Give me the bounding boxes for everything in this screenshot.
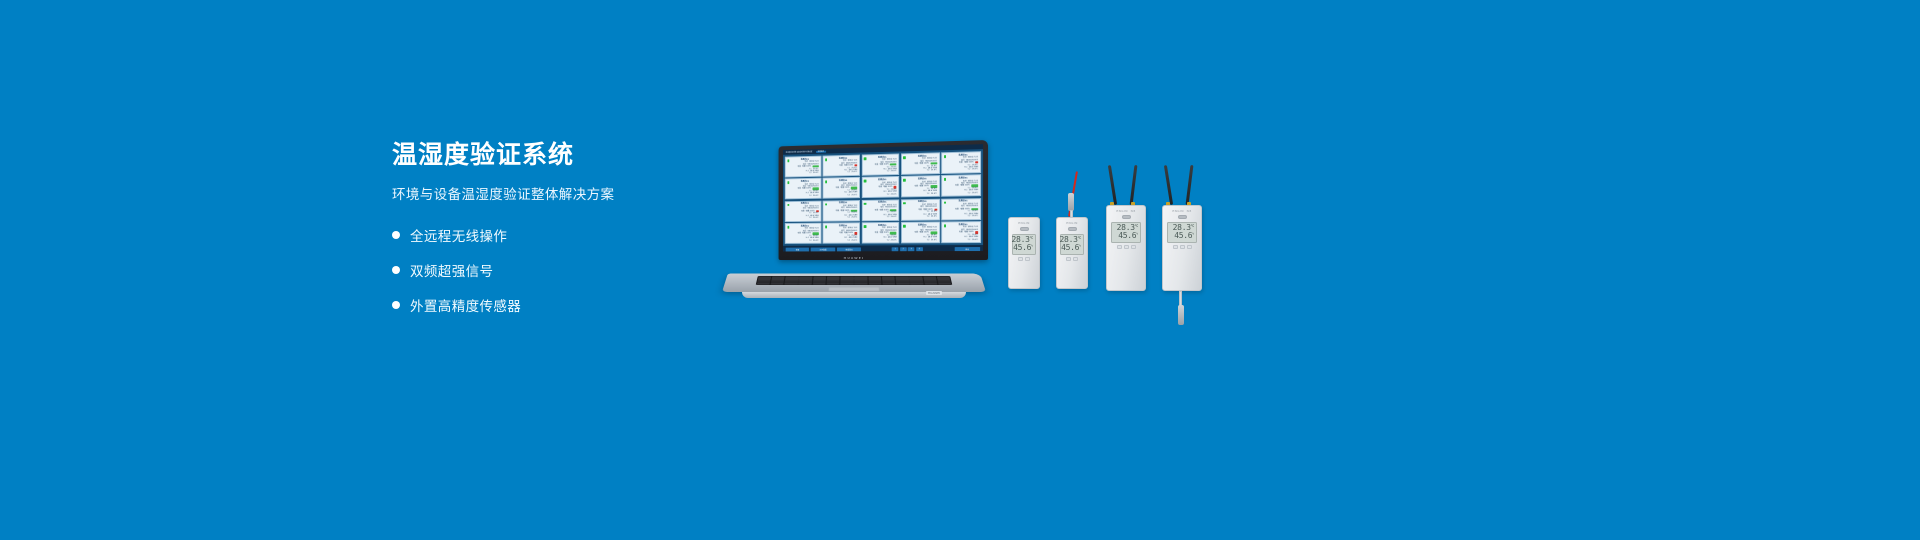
monitor-card[interactable]: 监测点01名称验证点 T-01编号SN20250001电量电量 100%T-12… xyxy=(941,151,981,174)
field-label: T-2 xyxy=(968,239,971,241)
field-value: 25.6℃ xyxy=(972,239,978,241)
monitor-card-field: T-225.6℃ xyxy=(868,193,897,196)
field-label: 电量 xyxy=(914,232,918,234)
field-label: 电量 xyxy=(839,232,842,234)
field-label: 电量 xyxy=(878,187,882,189)
keyboard-key[interactable] xyxy=(770,283,783,284)
antenna-right xyxy=(1186,165,1194,205)
monitor-card[interactable]: 监测点01名称验证点 T-01编号SN20250001电量电量 100%T-12… xyxy=(823,223,860,244)
status-led-icon xyxy=(903,156,905,159)
field-label: 电量 xyxy=(959,162,963,165)
monitor-card[interactable]: 监测点01名称验证点 T-01编号SN20250001电量电量 100%T-12… xyxy=(901,175,940,197)
antenna-left xyxy=(1164,165,1173,205)
field-label: T-2 xyxy=(809,217,812,219)
monitor-card-field: T-225.6℃ xyxy=(868,171,897,174)
exit-button[interactable]: 退出 xyxy=(954,247,980,252)
field-label: 电量 xyxy=(914,163,918,166)
status-led-icon xyxy=(944,155,947,158)
laptop-screen: 温湿度验证系统 设备实时监控 采集设置 实时监控 监测点01名称验证点 T-01… xyxy=(783,144,983,251)
page-subtitle: 环境与设备温湿度验证整体解决方案 xyxy=(392,186,722,205)
device-hanger-hole xyxy=(1068,227,1077,231)
app-toolbar: 新建 打开配置 数据导出 1 2 3 4 退出 xyxy=(783,245,983,251)
device-key[interactable] xyxy=(1025,257,1030,261)
device-keypad[interactable] xyxy=(1066,257,1078,261)
lcd-humidity: 45.6% xyxy=(1013,244,1033,252)
device-key[interactable] xyxy=(1180,245,1185,249)
laptop-lip-label: HUAWEI xyxy=(926,291,942,295)
keyboard-key[interactable] xyxy=(826,283,839,284)
monitor-card-field: T-225.6℃ xyxy=(908,170,937,173)
device-body: ENGIN N8 28.3℃ 45.6% xyxy=(1162,205,1202,291)
monitor-card-field: T-225.6℃ xyxy=(868,239,897,242)
data-logger-small-1: ENGIN 28.3℃ 45.6% xyxy=(1008,217,1040,289)
monitor-card-field: T-225.6℃ xyxy=(829,172,857,175)
new-button[interactable]: 新建 xyxy=(786,247,810,251)
device-body: ENGIN 28.3℃ 45.6% xyxy=(1056,217,1088,289)
device-keypad[interactable] xyxy=(1018,257,1030,261)
antenna-right xyxy=(1130,165,1138,205)
lcd-humidity: 45.6% xyxy=(1174,232,1194,240)
field-label: T-2 xyxy=(927,193,930,195)
field-value: 25.6℃ xyxy=(931,170,937,173)
monitor-card-field: T-225.6℃ xyxy=(829,194,857,197)
status-led-icon xyxy=(864,180,866,183)
field-value: 25.6℃ xyxy=(931,193,937,196)
field-label: T-2 xyxy=(887,216,890,218)
laptop-brand-logo: HUAWEI xyxy=(844,256,865,260)
field-label: T-2 xyxy=(927,170,930,172)
monitor-card-field: T-225.6℃ xyxy=(948,192,978,195)
monitor-card[interactable]: 监测点01名称验证点 T-01编号SN20250001电量电量 100%T-12… xyxy=(785,223,822,244)
device-lcd-display: 28.3℃ 45.6% xyxy=(1012,234,1035,255)
monitor-card-grid: 监测点01名称验证点 T-01编号SN20250001电量电量 100%T-12… xyxy=(783,149,983,246)
monitor-card[interactable]: 监测点01名称验证点 T-01编号SN20250001电量电量 100%T-12… xyxy=(823,177,860,199)
sensor-probe-tip xyxy=(1068,193,1074,211)
device-key[interactable] xyxy=(1117,245,1122,249)
status-led-icon xyxy=(944,178,947,181)
monitor-card[interactable]: 监测点01名称验证点 T-01编号SN20250001电量电量 100%T-12… xyxy=(861,153,899,175)
lcd-humidity: 45.6% xyxy=(1118,232,1138,240)
status-led-icon xyxy=(825,158,827,161)
device-body: ENGIN N8 28.3℃ 45.6% xyxy=(1106,205,1146,291)
status-led-icon xyxy=(944,225,947,228)
sensor-probe-tip xyxy=(1178,305,1184,325)
status-led-icon xyxy=(825,226,827,229)
monitor-card-field: T-225.6℃ xyxy=(948,169,978,172)
feature-list: 全远程无线操作 双频超强信号 外置高精度传感器 xyxy=(392,225,722,315)
monitor-card[interactable]: 监测点01名称验证点 T-01编号SN20250001电量电量 100%T-12… xyxy=(901,222,940,244)
page-button-2[interactable]: 2 xyxy=(900,247,907,251)
monitor-card[interactable]: 监测点01名称验证点 T-01编号SN20250001电量电量 100%T-12… xyxy=(941,175,981,198)
list-item: 全远程无线操作 xyxy=(392,225,722,245)
laptop-deck xyxy=(722,274,986,292)
field-label: 电量 xyxy=(914,186,918,188)
field-value: 25.6℃ xyxy=(813,195,819,197)
monitor-card[interactable]: 监测点01名称验证点 T-01编号SN20250001电量电量 100%T-12… xyxy=(941,198,981,220)
hero-text-block: 温湿度验证系统 环境与设备温湿度验证整体解决方案 全远程无线操作 双频超强信号 … xyxy=(392,140,722,330)
status-led-icon xyxy=(787,159,789,162)
monitor-card-field: T-225.6℃ xyxy=(908,216,937,219)
field-label: T-2 xyxy=(809,173,812,175)
monitor-card-field: T-225.6℃ xyxy=(948,215,978,218)
monitor-card-field: T-225.6℃ xyxy=(791,195,819,198)
feature-label: 双频超强信号 xyxy=(410,260,493,280)
field-value: 25.6℃ xyxy=(813,240,819,242)
data-logger-large-2: ENGIN N8 28.3℃ 45.6% xyxy=(1162,205,1202,291)
field-value: 25.6℃ xyxy=(851,172,857,175)
field-label: 电量 xyxy=(797,166,800,168)
device-lcd-display: 28.3℃ 45.6% xyxy=(1111,222,1141,243)
field-label: 电量 xyxy=(797,188,800,190)
device-lcd-display: 28.3℃ 45.6% xyxy=(1167,222,1197,243)
field-value: 25.6℃ xyxy=(851,217,857,219)
page-button-1[interactable]: 1 xyxy=(892,247,899,251)
keyboard-key[interactable] xyxy=(854,283,867,284)
status-led-icon xyxy=(787,182,789,185)
monitor-card-field: T-225.6℃ xyxy=(791,172,819,175)
status-led-icon xyxy=(864,157,866,160)
device-keypad[interactable] xyxy=(1117,245,1136,249)
field-label: T-2 xyxy=(847,239,850,241)
device-keypad[interactable] xyxy=(1173,245,1192,249)
monitor-card[interactable]: 监测点01名称验证点 T-01编号SN20250001电量电量 100%T-12… xyxy=(861,199,899,221)
data-logger-small-2: ENGIN 28.3℃ 45.6% xyxy=(1056,217,1088,289)
monitor-card-field: T-225.6℃ xyxy=(791,240,819,242)
trackpad[interactable] xyxy=(828,287,881,292)
monitor-card-field: T-225.6℃ xyxy=(908,239,937,242)
device-hanger-hole xyxy=(1122,215,1131,219)
field-label: 电量 xyxy=(797,233,800,235)
device-key[interactable] xyxy=(1187,245,1192,249)
feature-label: 全远程无线操作 xyxy=(410,225,507,245)
monitor-card[interactable]: 监测点01名称验证点 T-01编号SN20250001电量电量 100%T-12… xyxy=(861,222,899,244)
device-brand-label: ENGIN xyxy=(1066,221,1078,225)
device-body: ENGIN 28.3℃ 45.6% xyxy=(1008,217,1040,289)
page-title: 温湿度验证系统 xyxy=(392,140,722,170)
field-label: T-2 xyxy=(887,239,890,241)
field-value: 25.6℃ xyxy=(813,217,819,219)
field-label: 电量 xyxy=(959,231,963,233)
keyboard-key[interactable] xyxy=(798,283,811,284)
laptop-lid: 温湿度验证系统 设备实时监控 采集设置 实时监控 监测点01名称验证点 T-01… xyxy=(779,140,988,260)
keyboard-key[interactable] xyxy=(756,283,769,284)
status-led-icon xyxy=(903,179,905,182)
field-label: 电量 xyxy=(801,210,804,212)
monitor-card[interactable]: 监测点01名称验证点 T-01编号SN20250001电量电量 100%T-12… xyxy=(823,200,860,222)
status-led-icon xyxy=(903,225,905,228)
field-label: T-2 xyxy=(847,194,850,196)
keyboard-row xyxy=(756,283,951,284)
field-value: 25.6℃ xyxy=(972,215,978,218)
list-item: 外置高精度传感器 xyxy=(392,295,722,315)
monitor-card[interactable]: 监测点01名称验证点 T-01编号SN20250001电量电量 100%T-12… xyxy=(785,200,822,221)
field-label: 电量 xyxy=(955,208,959,210)
laptop-illustration: 温湿度验证系统 设备实时监控 采集设置 实时监控 监测点01名称验证点 T-01… xyxy=(720,140,988,300)
monitor-card-field: T-225.6℃ xyxy=(908,193,937,196)
monitor-card[interactable]: 监测点01名称验证点 T-01编号SN20250001电量电量 100%T-12… xyxy=(901,152,940,175)
monitor-card-field: T-225.6℃ xyxy=(791,217,819,220)
field-value: 25.6℃ xyxy=(851,194,857,196)
field-label: T-2 xyxy=(887,171,890,173)
field-label: 电量 xyxy=(839,165,842,167)
field-label: T-2 xyxy=(809,195,812,197)
field-value: 25.6℃ xyxy=(891,171,897,174)
device-hanger-hole xyxy=(1178,215,1187,219)
status-led-icon xyxy=(903,202,905,205)
keyboard-key[interactable] xyxy=(784,283,797,284)
device-group: ENGIN 28.3℃ 45.6% xyxy=(1000,175,1240,325)
keyboard-key[interactable] xyxy=(896,283,909,284)
field-value: 25.6℃ xyxy=(851,239,857,241)
antenna-left xyxy=(1108,165,1117,205)
page-button-4[interactable]: 4 xyxy=(916,247,923,251)
field-label: 电量 xyxy=(875,232,879,234)
field-label: T-2 xyxy=(847,217,850,219)
status-led-icon xyxy=(944,201,947,204)
laptop-front-lip: HUAWEI xyxy=(742,292,966,298)
field-label: T-2 xyxy=(847,172,850,174)
device-key[interactable] xyxy=(1073,257,1078,261)
device-hanger-hole xyxy=(1020,227,1029,231)
field-label: 电量 xyxy=(875,164,879,166)
status-led-icon xyxy=(864,225,866,228)
field-value: 25.6℃ xyxy=(891,193,897,196)
keyboard-key[interactable] xyxy=(840,283,853,284)
field-value: 25.6℃ xyxy=(891,216,897,218)
status-led-icon xyxy=(787,204,789,206)
feature-label: 外置高精度传感器 xyxy=(410,295,521,315)
field-label: T-2 xyxy=(968,215,971,217)
keyboard[interactable] xyxy=(755,276,952,285)
bullet-dot-icon xyxy=(392,231,400,239)
field-value: 25.6℃ xyxy=(972,192,978,195)
laptop-base: HUAWEI xyxy=(720,254,988,300)
monitor-card-field: T-225.6℃ xyxy=(829,217,857,220)
field-label: T-2 xyxy=(968,169,971,172)
monitor-card[interactable]: 监测点01名称验证点 T-01编号SN20250001电量电量 100%T-12… xyxy=(785,178,822,200)
field-label: 电量 xyxy=(875,209,879,211)
monitor-card-field: T-225.6℃ xyxy=(948,239,978,242)
device-key[interactable] xyxy=(1131,245,1136,249)
tab-realtime[interactable]: 实时监控 xyxy=(816,150,826,152)
field-value: 25.6℃ xyxy=(972,169,978,172)
list-item: 双频超强信号 xyxy=(392,260,722,280)
monitor-card[interactable]: 监测点01名称验证点 T-01编号SN20250001电量电量 100%T-12… xyxy=(901,199,940,221)
device-key[interactable] xyxy=(1018,257,1023,261)
field-label: T-2 xyxy=(809,240,812,242)
field-label: T-2 xyxy=(887,194,890,196)
monitor-card[interactable]: 监测点01名称验证点 T-01编号SN20250001电量电量 100%T-12… xyxy=(941,221,981,243)
field-value: 25.6℃ xyxy=(931,239,937,241)
device-brand-label: ENGIN N8 xyxy=(1172,209,1191,213)
field-label: T-2 xyxy=(968,192,971,195)
field-label: 电量 xyxy=(836,210,839,212)
monitor-card[interactable]: 监测点01名称验证点 T-01编号SN20250001电量电量 100%T-12… xyxy=(823,155,860,177)
monitor-card[interactable]: 监测点01名称验证点 T-01编号SN20250001电量电量 100%T-12… xyxy=(861,176,899,198)
keyboard-key[interactable] xyxy=(868,283,881,284)
device-key[interactable] xyxy=(1066,257,1071,261)
keyboard-key[interactable] xyxy=(924,283,937,284)
monitor-card-field: T-225.6℃ xyxy=(868,216,897,219)
field-label: T-2 xyxy=(927,216,930,218)
status-led-icon xyxy=(825,181,827,184)
field-label: 电量 xyxy=(955,185,959,188)
device-brand-label: ENGIN xyxy=(1018,221,1030,225)
field-label: 电量 xyxy=(918,209,922,211)
monitor-card-field: T-225.6℃ xyxy=(829,239,857,242)
device-key[interactable] xyxy=(1124,245,1129,249)
data-logger-large-1: ENGIN N8 28.3℃ 45.6% xyxy=(1106,205,1146,291)
export-data-button[interactable]: 数据导出 xyxy=(837,247,861,251)
field-label: T-2 xyxy=(927,239,930,241)
keyboard-key[interactable] xyxy=(882,283,895,284)
monitor-card[interactable]: 监测点01名称验证点 T-01编号SN20250001电量电量 100%T-12… xyxy=(785,156,822,178)
hero-banner: 温湿度验证系统 环境与设备温湿度验证整体解决方案 全远程无线操作 双频超强信号 … xyxy=(0,0,1920,540)
lcd-humidity: 45.6% xyxy=(1061,244,1081,252)
keyboard-key[interactable] xyxy=(938,283,951,284)
device-brand-label: ENGIN N8 xyxy=(1116,209,1135,213)
status-led-icon xyxy=(864,203,866,206)
bullet-dot-icon xyxy=(392,301,400,309)
keyboard-key[interactable] xyxy=(910,283,923,284)
pagination: 1 2 3 4 xyxy=(890,247,925,251)
field-value: 25.6℃ xyxy=(931,216,937,219)
field-value: 25.6℃ xyxy=(891,239,897,241)
keyboard-key[interactable] xyxy=(812,283,825,284)
field-label: 电量 xyxy=(836,187,839,189)
status-led-icon xyxy=(825,203,827,206)
bullet-dot-icon xyxy=(392,266,400,274)
page-button-3[interactable]: 3 xyxy=(908,247,915,251)
device-lcd-display: 28.3℃ 45.6% xyxy=(1060,234,1083,255)
device-key[interactable] xyxy=(1173,245,1178,249)
app-menu-label: 温湿度验证系统 设备实时监控 采集设置 xyxy=(786,151,813,154)
field-value: 25.6℃ xyxy=(813,172,819,174)
status-led-icon xyxy=(787,226,789,228)
open-config-button[interactable]: 打开配置 xyxy=(811,247,835,251)
